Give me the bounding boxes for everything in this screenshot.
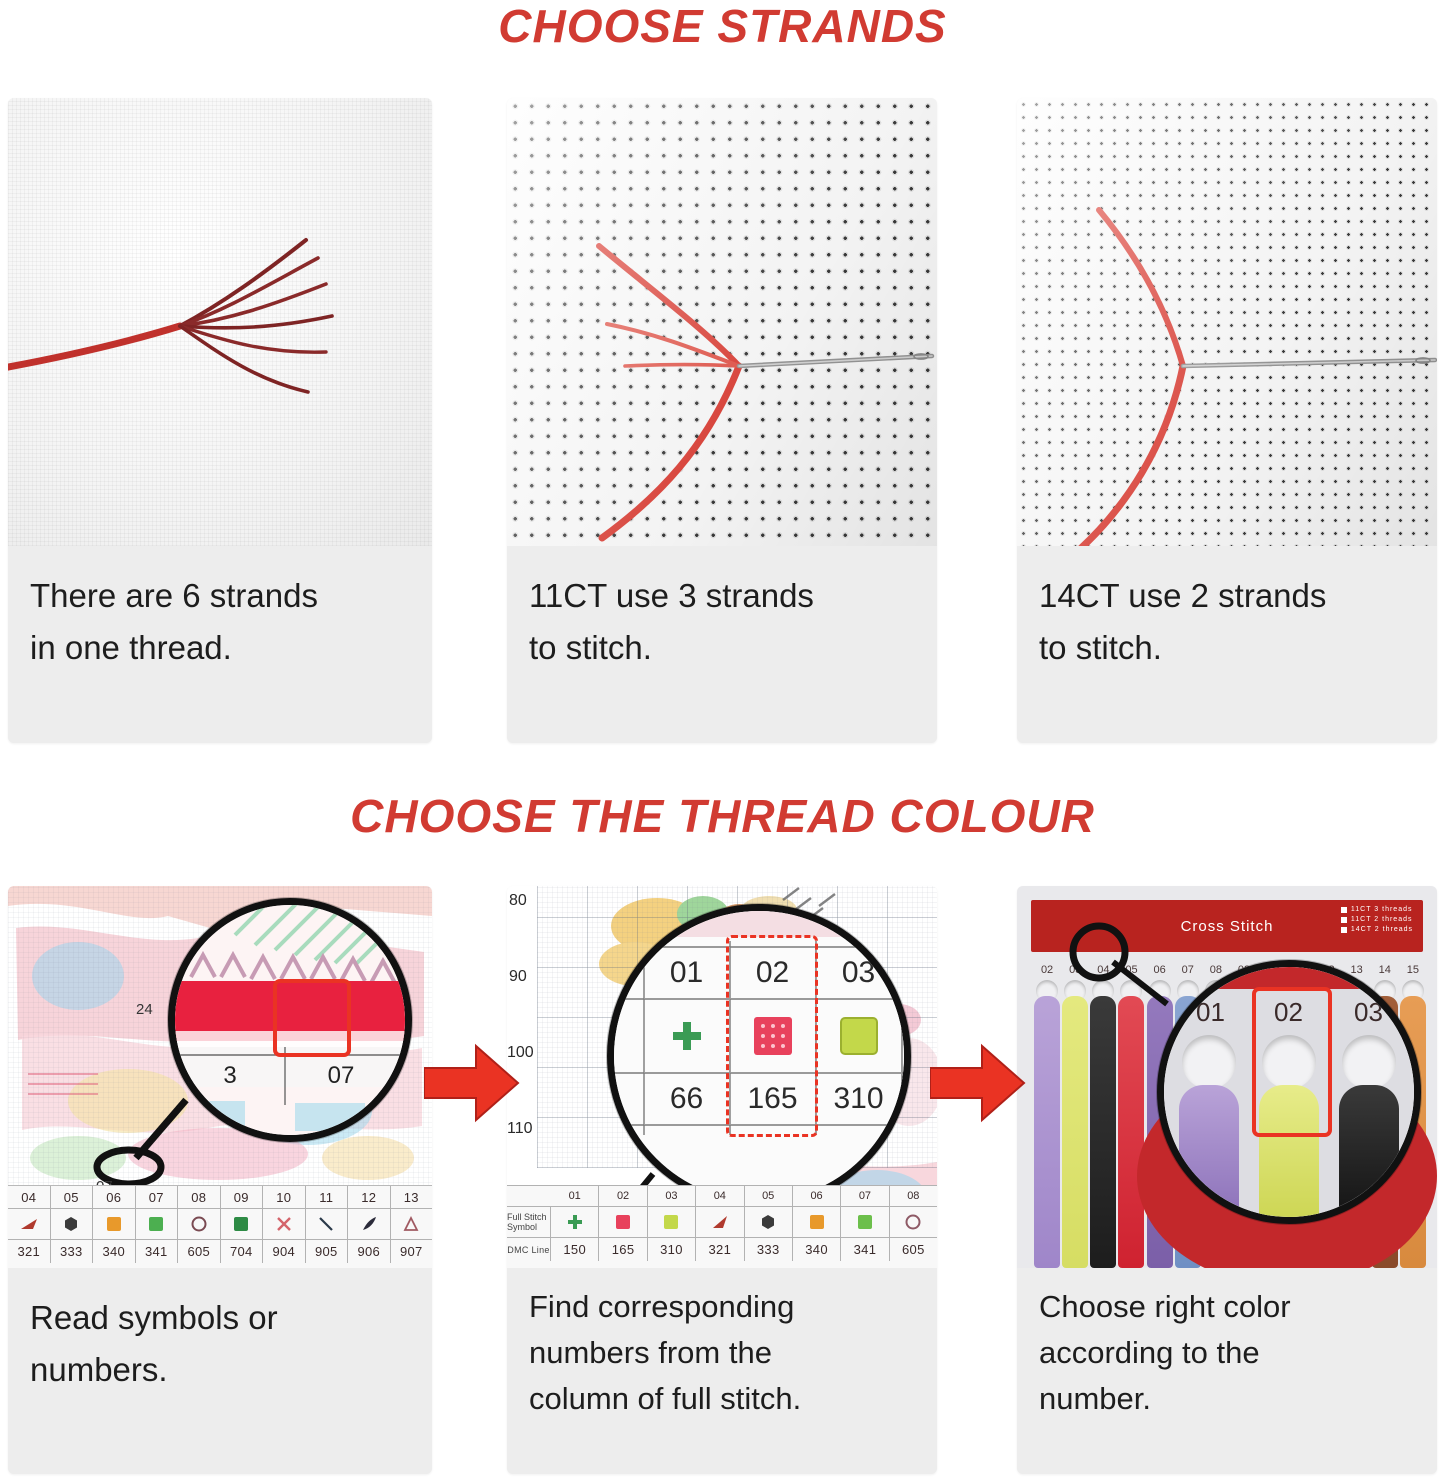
infographic-page: CHOOSE STRANDS: [0, 0, 1445, 1478]
legend-code: 907: [391, 1240, 433, 1263]
option-label: 11CT 2 threads: [1351, 916, 1413, 923]
legend-code: 605: [890, 1238, 937, 1261]
caption-line: to stitch.: [529, 622, 915, 674]
legend-symbol-dark-hexagon-icon: [745, 1206, 793, 1238]
colour-cards-row: 24: [0, 886, 1445, 1478]
legend-code: 341: [841, 1238, 889, 1261]
magnified-column-number: 01: [644, 947, 730, 999]
legend-symbol-row: [8, 1208, 432, 1240]
legend-number: 04: [8, 1186, 51, 1208]
magnified-thread-code: 310: [816, 1073, 902, 1125]
legend-number: 11: [306, 1186, 349, 1208]
caption-line: Choose right color: [1039, 1284, 1415, 1330]
legend-symbol-filled-triangle-icon: [696, 1206, 744, 1238]
thread-card-options: 11CT 3 threads 11CT 2 threads 14CT 2 thr…: [1341, 906, 1413, 933]
photo-11ct-fabric: [507, 98, 937, 546]
caption-line: 14CT use 2 strands: [1039, 570, 1415, 622]
hole-number: 03: [1061, 964, 1089, 976]
legend-number: 03: [648, 1186, 696, 1206]
legend-code: 150: [551, 1238, 599, 1261]
magnified-symbol-number: 07: [328, 1062, 355, 1089]
magnified-hole-number: 03: [1354, 997, 1383, 1028]
caption-find-numbers: Find corresponding numbers from the colu…: [507, 1268, 937, 1474]
legend-code: 333: [51, 1240, 94, 1263]
floss-bundle: [1034, 996, 1060, 1268]
legend-number: 09: [221, 1186, 264, 1208]
hole-number: 02: [1033, 964, 1061, 976]
row-label: 80: [509, 892, 527, 910]
photo-pattern-chart: 24: [8, 886, 432, 1268]
card-read-symbols: 24: [8, 886, 432, 1474]
legend-code: 605: [178, 1240, 221, 1263]
card-choose-color: Cross Stitch 11CT 3 threads 11CT 2 threa…: [1017, 886, 1437, 1474]
floss-bundle: [1062, 996, 1088, 1268]
legend-code: 333: [745, 1238, 793, 1261]
legend-symbol-open-circle-icon: [178, 1208, 221, 1240]
magnified-column-number: 03: [816, 947, 902, 999]
magnified-hole-number: 01: [1196, 997, 1225, 1028]
legend-row-label-dmc: DMC Line: [507, 1238, 551, 1261]
option-item: 11CT 2 threads: [1341, 916, 1413, 923]
section-title-choose-strands: CHOOSE STRANDS: [0, 0, 1445, 54]
legend-symbol-open-triangle-icon: [391, 1208, 433, 1240]
legend-code: 340: [793, 1238, 841, 1261]
symbol-legend-table: 04 05 06 07 08 09 10 11 12 13: [8, 1185, 432, 1268]
legend-number: 12: [348, 1186, 391, 1208]
legend-code: 704: [221, 1240, 264, 1263]
photo-number-chart: 80 90 100 110: [507, 886, 937, 1268]
caption-line: Read symbols or: [30, 1292, 410, 1344]
caption-six-strands: There are 6 strands in one thread.: [8, 546, 432, 743]
legend-number: 06: [93, 1186, 136, 1208]
legend-code: 340: [93, 1240, 136, 1263]
caption-read-symbols: Read symbols or numbers.: [8, 1268, 432, 1474]
photo-14ct-fabric: [1017, 98, 1437, 546]
legend-symbol-green-square-icon: [136, 1208, 179, 1240]
checkbox-icon: [1341, 917, 1347, 923]
magnified-skein-hole: [1342, 1035, 1396, 1089]
caption-line: according to the: [1039, 1330, 1415, 1376]
magnifier-lens-symbols: 3 07: [168, 898, 412, 1142]
caption-line: number.: [1039, 1376, 1415, 1422]
legend-code: 906: [348, 1240, 391, 1263]
highlight-box-thread-02: [1252, 987, 1332, 1137]
legend-number-row: 04 05 06 07 08 09 10 11 12 13: [8, 1186, 432, 1208]
caption-11ct: 11CT use 3 strands to stitch.: [507, 546, 937, 743]
caption-line: numbers from the: [529, 1330, 915, 1376]
legend-symbol-green-square-icon: [841, 1206, 889, 1238]
legend-code-row: DMC Line 150 165 310 321 333 340 341 605: [507, 1238, 937, 1261]
caption-line: There are 6 strands: [30, 570, 410, 622]
legend-number: 05: [745, 1186, 793, 1206]
skein: [1089, 978, 1117, 1268]
magnified-skein-hole: [1182, 1035, 1236, 1089]
legend-number: 13: [391, 1186, 433, 1208]
caption-choose-color: Choose right color according to the numb…: [1017, 1268, 1437, 1474]
magnifier-lens-numbers: 01 02 03: [607, 904, 911, 1208]
option-label: 11CT 3 threads: [1351, 906, 1413, 913]
legend-code: 904: [263, 1240, 306, 1263]
checkbox-icon: [1341, 907, 1347, 913]
legend-number: 02: [599, 1186, 647, 1206]
card-14ct: 14CT use 2 strands to stitch.: [1017, 98, 1437, 743]
caption-line: column of full stitch.: [529, 1376, 915, 1422]
legend-symbol-dark-leaf-icon: [348, 1208, 391, 1240]
legend-symbol-dark-green-square-icon: [221, 1208, 264, 1240]
thread-and-needle-illustration-11ct: [507, 98, 937, 546]
option-item: 11CT 3 threads: [1341, 906, 1413, 913]
legend-symbol-diagonal-line-icon: [306, 1208, 349, 1240]
section-title-choose-thread-colour: CHOOSE THE THREAD COLOUR: [0, 788, 1445, 844]
arrow-right-icon: [930, 1040, 1026, 1126]
legend-number: 05: [51, 1186, 94, 1208]
photo-six-strands: [8, 98, 432, 546]
magnified-floss-bundle: [1179, 1085, 1239, 1224]
legend-symbol-red-cross-icon: [263, 1208, 306, 1240]
card-find-numbers: 80 90 100 110: [507, 886, 937, 1474]
six-strands-illustration: [8, 98, 432, 546]
legend-symbol-orange-square-icon: [93, 1208, 136, 1240]
caption-line: in one thread.: [30, 622, 410, 674]
legend-number: 01: [551, 1186, 599, 1206]
legend-symbol-red-square-icon: [599, 1206, 647, 1238]
legend-symbol-green-cross-icon: [551, 1206, 599, 1238]
legend-code: 321: [696, 1238, 744, 1261]
magnified-symbol-lime-square-icon: [816, 999, 902, 1073]
magnifier-lens-threads: 01 02 03: [1157, 960, 1421, 1224]
legend-number: 08: [890, 1186, 937, 1206]
magnified-symbol-green-cross-icon: [644, 999, 730, 1073]
option-label: 14CT 2 threads: [1351, 926, 1413, 933]
highlight-box-symbol: [273, 979, 351, 1057]
caption-14ct: 14CT use 2 strands to stitch.: [1017, 546, 1437, 743]
legend-symbol-dark-hexagon-icon: [51, 1208, 94, 1240]
legend-symbol-open-circle-icon: [890, 1206, 937, 1238]
floss-bundle: [1090, 996, 1116, 1268]
full-stitch-legend-table: Full Stitch Symbol: [507, 1205, 937, 1268]
legend-code: 310: [648, 1238, 696, 1261]
legend-code-row: 321 333 340 341 605 704 904 905 906 907: [8, 1240, 432, 1263]
hole-number: 05: [1117, 964, 1145, 976]
magnified-thread-code: 66: [644, 1073, 730, 1125]
caption-line: numbers.: [30, 1344, 410, 1396]
legend-symbol-lime-square-icon: [648, 1206, 696, 1238]
svg-text:3: 3: [223, 1062, 236, 1089]
skein: [1061, 978, 1089, 1268]
thread-card-header: Cross Stitch 11CT 3 threads 11CT 2 threa…: [1031, 900, 1423, 952]
legend-code: 165: [599, 1238, 647, 1261]
legend-number: 07: [841, 1186, 889, 1206]
hole-number: 04: [1089, 964, 1117, 976]
legend-top-row: Full Stitch Symbol: [507, 1206, 937, 1238]
caption-line: 11CT use 3 strands: [529, 570, 915, 622]
legend-row-label-symbol: Full Stitch Symbol: [507, 1206, 551, 1238]
strand-cards-row: There are 6 strands in one thread.: [0, 98, 1445, 758]
magnified-floss-bundle: [1339, 1085, 1399, 1224]
thread-and-needle-illustration-14ct: [1017, 98, 1437, 546]
legend-number: 10: [263, 1186, 306, 1208]
legend-code: 341: [136, 1240, 179, 1263]
option-item: 14CT 2 threads: [1341, 926, 1413, 933]
legend-number: 04: [696, 1186, 744, 1206]
legend-number: 07: [136, 1186, 179, 1208]
caption-line: to stitch.: [1039, 622, 1415, 674]
legend-symbol-filled-triangle-icon: [8, 1208, 51, 1240]
checkbox-icon: [1341, 927, 1347, 933]
skein: [1033, 978, 1061, 1268]
legend-number: 08: [178, 1186, 221, 1208]
row-label: 90: [509, 968, 527, 986]
caption-line: Find corresponding: [529, 1284, 915, 1330]
legend-code: 905: [306, 1240, 349, 1263]
legend-number-row: 01 02 03 04 05 06 07 08: [507, 1185, 937, 1206]
highlight-box-column-02: [726, 935, 818, 1137]
legend-code: 321: [8, 1240, 51, 1263]
legend-symbol-orange-square-icon: [793, 1206, 841, 1238]
photo-thread-card: Cross Stitch 11CT 3 threads 11CT 2 threa…: [1017, 886, 1437, 1268]
thread-card-title: Cross Stitch: [1181, 918, 1274, 935]
card-11ct: 11CT use 3 strands to stitch.: [507, 98, 937, 743]
arrow-right-icon: [424, 1040, 520, 1126]
card-six-strands: There are 6 strands in one thread.: [8, 98, 432, 743]
legend-number: 06: [793, 1186, 841, 1206]
